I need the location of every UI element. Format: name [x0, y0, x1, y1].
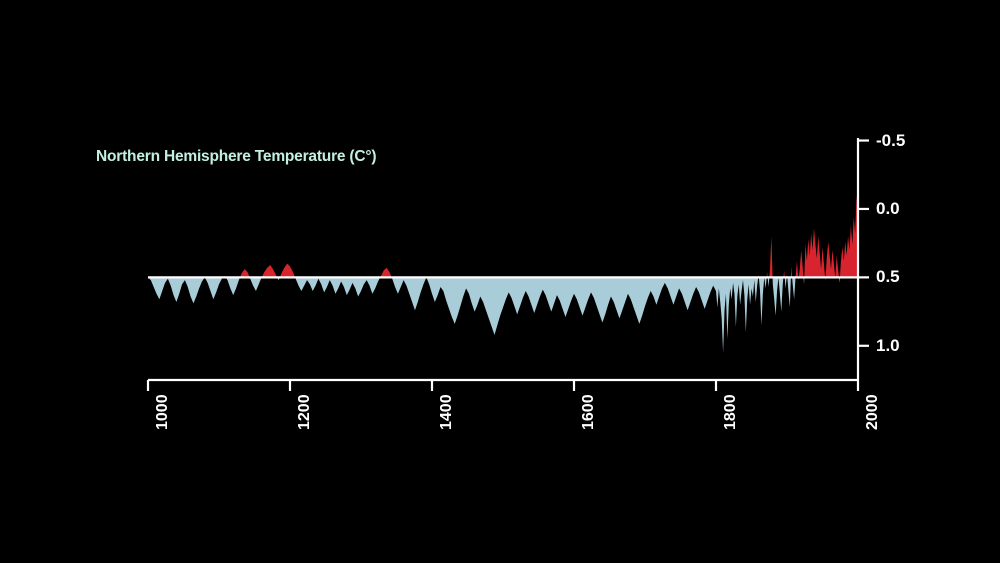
temperature-area-chart: [0, 0, 1000, 563]
x-axis-tick-label: 1200: [297, 394, 313, 430]
series-fill-below-baseline: [148, 195, 858, 352]
x-axis-tick-label: 1600: [581, 394, 597, 430]
chart-screenshot: Northern Hemisphere Temperature (C°): [0, 0, 1000, 563]
x-axis-tick-label: 1400: [439, 394, 455, 430]
y-axis-tick-label: 0.5: [876, 268, 900, 285]
y-axis-ticks: [858, 141, 869, 346]
y-axis-tick-label: 1.0: [876, 337, 900, 354]
y-axis-tick-label: 0.0: [876, 200, 900, 217]
x-axis-ticks: [148, 380, 858, 391]
y-axis-tick-label: -0.5: [876, 132, 905, 149]
x-axis-tick-label: 2000: [865, 394, 881, 430]
x-axis-tick-label: 1000: [155, 394, 171, 430]
x-axis-tick-label: 1800: [723, 394, 739, 430]
series-fill-above-baseline: [148, 195, 858, 352]
